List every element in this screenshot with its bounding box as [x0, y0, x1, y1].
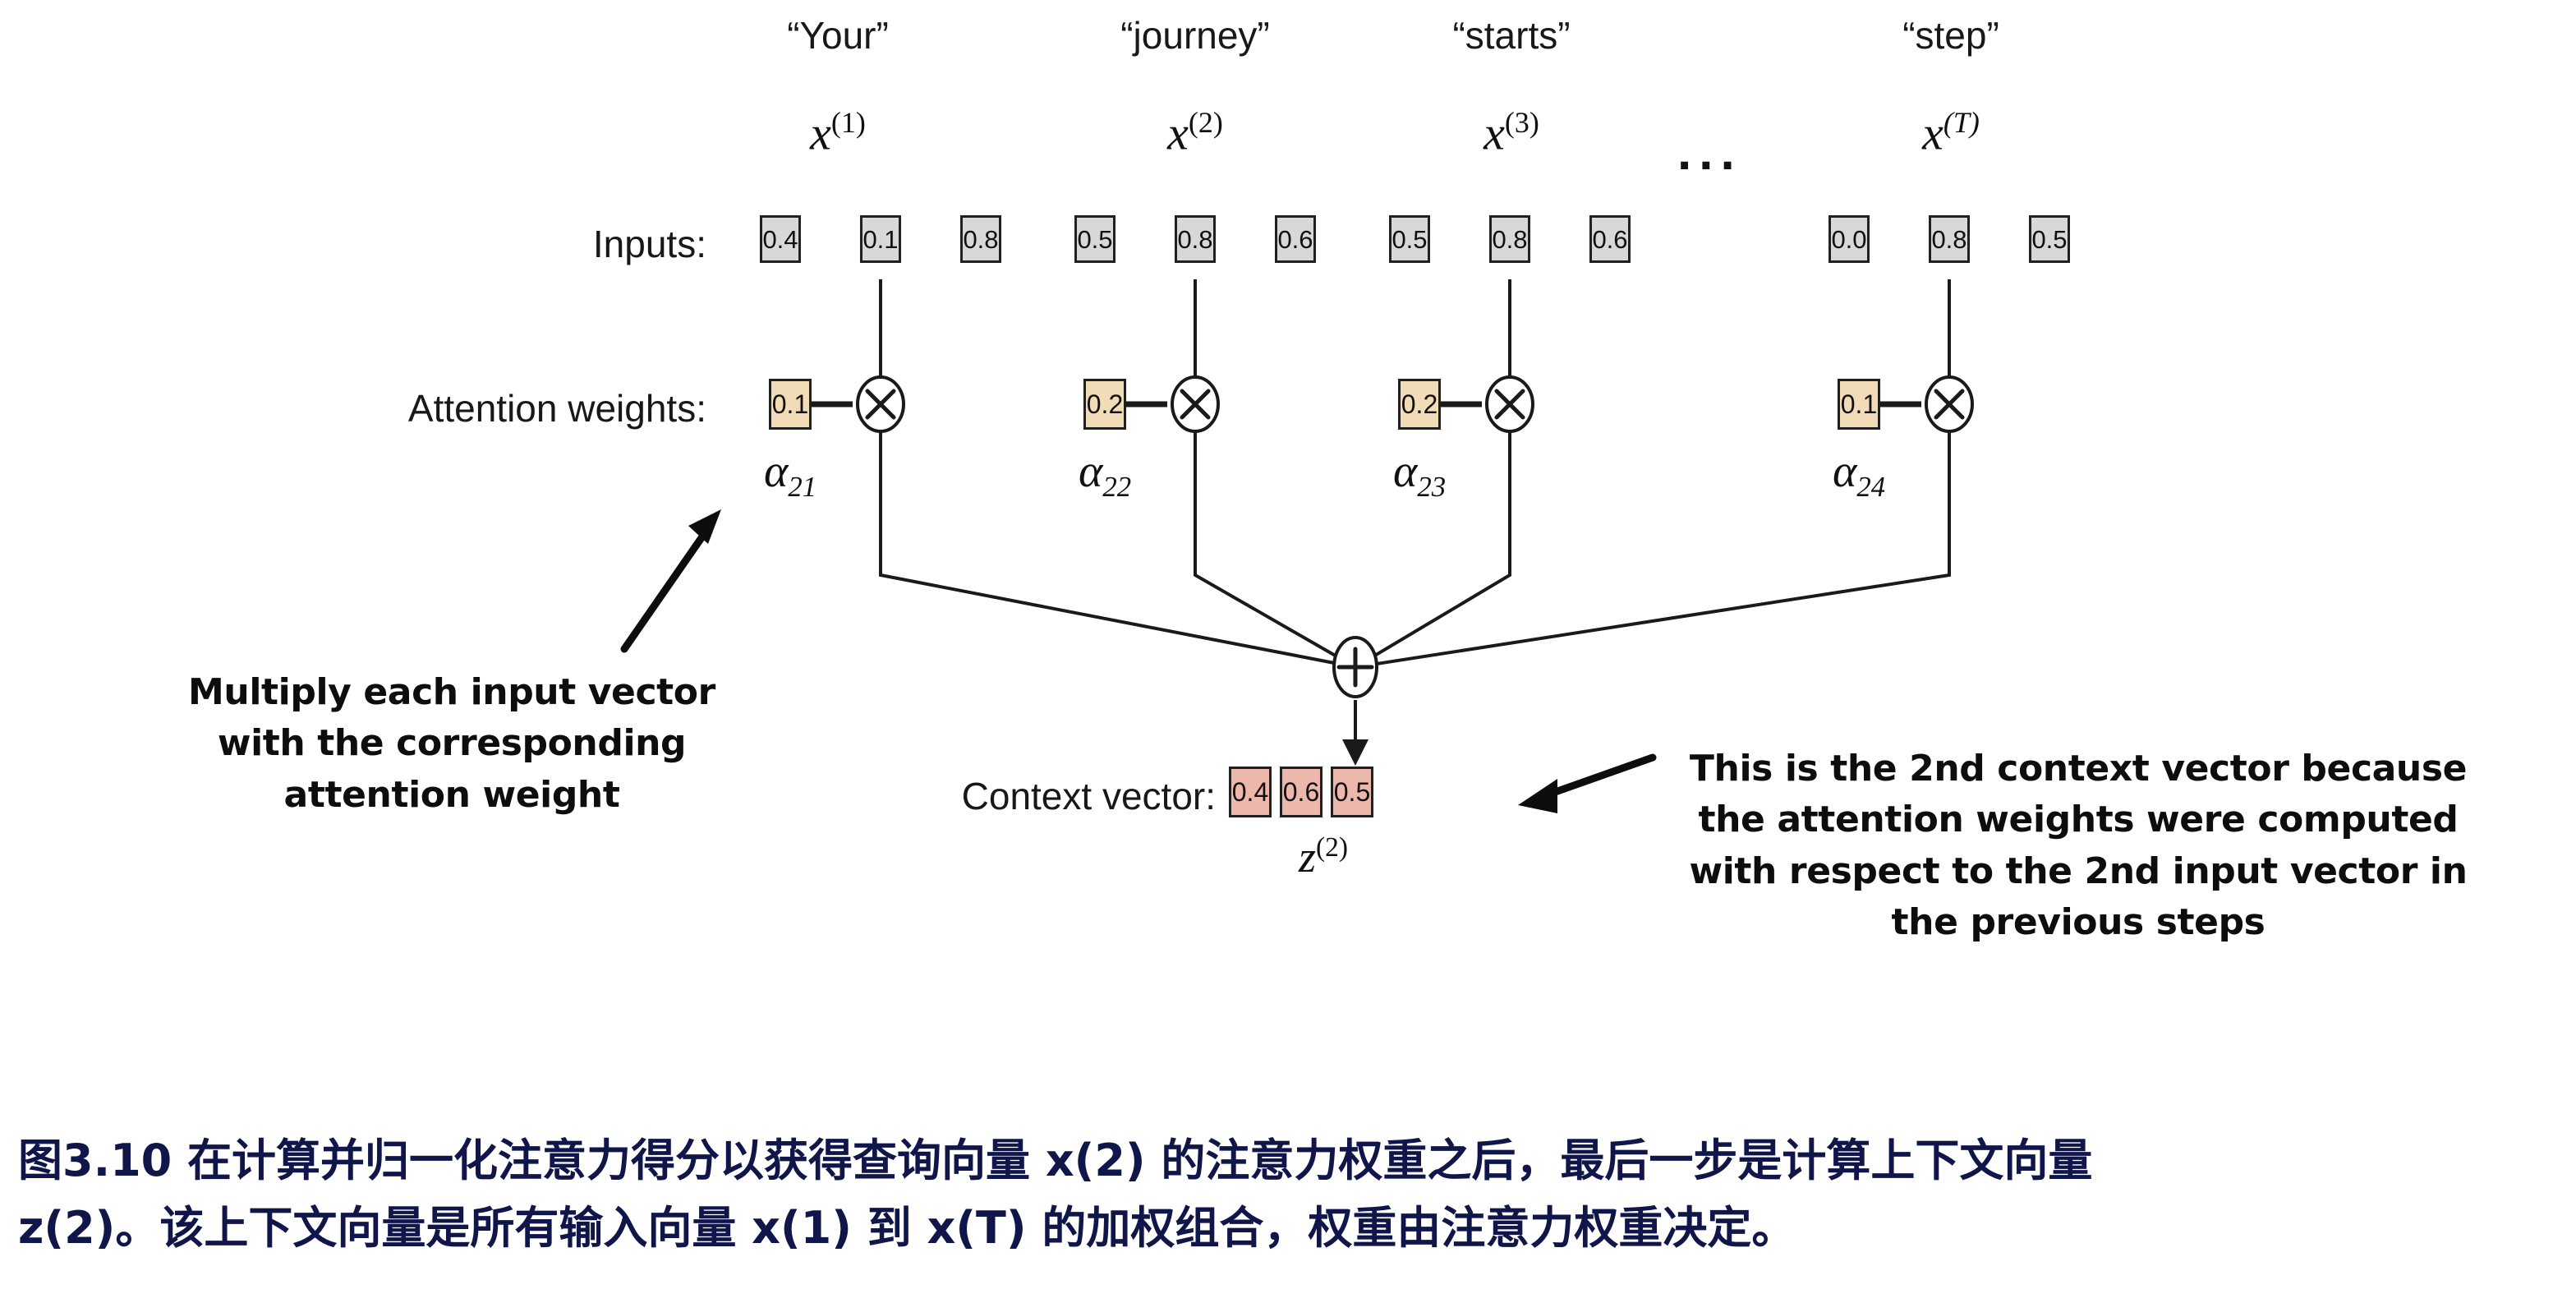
- figure-canvas: “Your” “journey” “starts” “step” x(1) x(…: [0, 0, 2576, 1303]
- context-cell: 0.5: [1331, 767, 1373, 817]
- input-symbol-base-4: x: [1922, 106, 1943, 159]
- input-symbol-index-4: (T): [1943, 106, 1980, 139]
- token-word-4: “step”: [1840, 13, 2062, 58]
- context-vector-row-label: Context vector:: [838, 774, 1216, 818]
- alpha-subscript-2: 22: [1102, 471, 1131, 503]
- figure-caption: 图3.10 在计算并归一化注意力得分以获得查询向量 x(2) 的注意力权重之后，…: [18, 1127, 2564, 1262]
- token-word-1: “Your”: [756, 13, 920, 58]
- input-cell: 0.8: [960, 215, 1001, 263]
- alpha-subscript-1: 21: [788, 471, 816, 503]
- caption-line-1: 图3.10 在计算并归一化注意力得分以获得查询向量 x(2) 的注意力权重之后，…: [18, 1127, 2564, 1195]
- input-cell: 0.6: [1275, 215, 1316, 263]
- caption-line-2: z(2)。该上下文向量是所有输入向量 x(1) 到 x(T) 的加权组合，权重由…: [18, 1195, 2564, 1262]
- attention-weight-cell: 0.2: [1083, 379, 1126, 430]
- alpha-glyph-2: α: [1079, 446, 1102, 497]
- context-cell: 0.4: [1229, 767, 1272, 817]
- attention-weight-cell: 0.1: [1838, 379, 1880, 430]
- input-cell: 0.1: [860, 215, 901, 263]
- input-cell: 0.8: [1489, 215, 1530, 263]
- context-symbol-index: (2): [1316, 832, 1348, 863]
- input-cell: 0.8: [1175, 215, 1216, 263]
- ellipsis: ...: [1677, 123, 1742, 182]
- input-cell: 0.5: [1074, 215, 1115, 263]
- alpha-subscript-4: 24: [1856, 471, 1885, 503]
- input-symbol-base-1: x: [810, 106, 831, 159]
- input-symbol-1: x(1): [756, 105, 920, 160]
- alpha-label-4: α24: [1785, 445, 1933, 504]
- input-cell: 0.4: [760, 215, 801, 263]
- left-annotation-arrow: [624, 509, 721, 649]
- input-symbol-2: x(2): [1064, 105, 1327, 160]
- connector-lines: [0, 0, 2576, 1303]
- input-cell: 0.8: [1929, 215, 1970, 263]
- alpha-label-3: α23: [1345, 445, 1493, 504]
- context-symbol-base: z: [1299, 832, 1316, 882]
- token-word-2: “journey”: [1064, 13, 1327, 58]
- context-symbol: z(2): [1245, 831, 1401, 882]
- input-cell: 0.6: [1589, 215, 1631, 263]
- token-word-3: “starts”: [1396, 13, 1626, 58]
- right-annotation: This is the 2nd context vector because t…: [1618, 744, 2538, 949]
- input-cell: 0.5: [2029, 215, 2070, 263]
- sum-node: [1334, 638, 1377, 697]
- alpha-glyph-4: α: [1833, 446, 1856, 497]
- alpha-label-2: α22: [1031, 445, 1179, 504]
- inputs-row-label: Inputs:: [394, 222, 706, 266]
- left-annotation: Multiply each input vector with the corr…: [123, 667, 780, 821]
- alpha-glyph-3: α: [1393, 446, 1417, 497]
- alpha-subscript-3: 23: [1417, 471, 1446, 503]
- input-symbol-4: x(T): [1840, 105, 2062, 160]
- input-symbol-index-3: (3): [1505, 106, 1539, 139]
- alpha-label-1: α21: [716, 445, 864, 504]
- alpha-glyph-1: α: [764, 446, 788, 497]
- context-cell: 0.6: [1280, 767, 1322, 817]
- sum-to-context-arrowhead: [1342, 739, 1368, 766]
- input-symbol-index-2: (2): [1189, 106, 1223, 139]
- input-symbol-base-2: x: [1167, 106, 1189, 159]
- input-symbol-3: x(3): [1396, 105, 1626, 160]
- input-symbol-index-text-4: (T): [1943, 106, 1980, 139]
- input-symbol-index-1: (1): [831, 106, 866, 139]
- attention-weight-cell: 0.2: [1398, 379, 1441, 430]
- input-symbol-base-3: x: [1483, 106, 1505, 159]
- input-cell: 0.5: [1389, 215, 1430, 263]
- input-cell: 0.0: [1828, 215, 1870, 263]
- attention-weight-cell: 0.1: [769, 379, 812, 430]
- attention-weights-row-label: Attention weights:: [263, 386, 706, 430]
